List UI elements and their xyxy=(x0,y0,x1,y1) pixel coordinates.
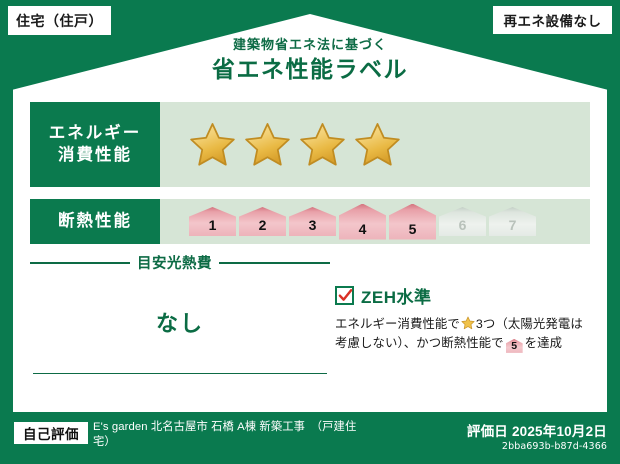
utility-cost-heading-text: 目安光熱費 xyxy=(137,252,212,273)
zeh-block: ZEH水準 エネルギー消費性能で 3つ（太陽光発電は考慮しない）、かつ断熱性能で… xyxy=(335,283,593,353)
evaluation-date-value: 2025年10月2日 xyxy=(512,424,607,439)
insulation-grade-scale: 1234567 xyxy=(160,199,590,244)
star-icon xyxy=(354,121,401,168)
zeh-desc-part1: エネルギー消費性能で xyxy=(335,317,460,331)
insulation-grade-2: 2 xyxy=(239,207,286,236)
zeh-desc-part3: を達成 xyxy=(525,336,562,350)
energy-performance-label: 住宅（住戸） 再エネ設備なし 建築物省エネ法に基づく 省エネ性能ラベル エネルギ… xyxy=(0,0,620,464)
energy-performance-label-line1: エネルギー xyxy=(49,123,142,144)
insulation-grade-1: 1 xyxy=(189,207,236,236)
energy-star-rating xyxy=(160,102,590,187)
header-subtitle: 建築物省エネ法に基づく xyxy=(0,38,620,52)
renewable-equipment-badge: 再エネ設備なし xyxy=(493,6,612,34)
utility-heading-rule-left xyxy=(30,262,130,264)
star-icon xyxy=(299,121,346,168)
evaluation-date: 評価日 2025年10月2日 xyxy=(467,420,607,440)
star-icon xyxy=(244,121,291,168)
label-header: 建築物省エネ法に基づく 省エネ性能ラベル xyxy=(0,38,620,83)
housing-type-badge: 住宅（住戸） xyxy=(8,6,111,35)
utility-cost-value: なし xyxy=(30,306,330,338)
utility-heading-rule-right xyxy=(219,262,330,264)
inline-grade-badge: 5 xyxy=(506,339,523,353)
page-title: 省エネ性能ラベル xyxy=(0,56,620,82)
energy-performance-row: エネルギー 消費性能 xyxy=(30,102,590,187)
evaluation-date-label: 評価日 xyxy=(467,424,508,439)
insulation-performance-label-text: 断熱性能 xyxy=(58,211,132,232)
utility-cost-block: 目安光熱費 なし xyxy=(30,252,330,382)
energy-performance-label: エネルギー 消費性能 xyxy=(30,102,160,187)
star-icon xyxy=(189,121,236,168)
star-icon xyxy=(461,316,475,330)
zeh-checkbox[interactable] xyxy=(335,286,354,305)
energy-performance-label-line2: 消費性能 xyxy=(58,145,132,166)
zeh-title: ZEH水準 xyxy=(361,283,432,308)
insulation-grade-6: 6 xyxy=(439,207,486,236)
document-id: 2bba693b-b87d-4366 xyxy=(502,441,607,452)
check-icon xyxy=(338,288,353,303)
insulation-grade-7: 7 xyxy=(489,207,536,236)
evaluation-type-badge: 自己評価 xyxy=(14,422,88,444)
utility-bottom-divider xyxy=(33,373,327,375)
insulation-grade-3: 3 xyxy=(289,207,336,236)
label-footer: 自己評価 E's garden 北名古屋市 石橋 A棟 新築工事 （戸建住宅） … xyxy=(0,415,620,464)
utility-cost-heading: 目安光熱費 xyxy=(30,252,330,273)
zeh-title-row: ZEH水準 xyxy=(335,283,593,308)
insulation-performance-row: 断熱性能 1234567 xyxy=(30,199,590,244)
zeh-description: エネルギー消費性能で 3つ（太陽光発電は考慮しない）、かつ断熱性能で5を達成 xyxy=(335,315,593,353)
project-name: E's garden 北名古屋市 石橋 A棟 新築工事 （戸建住宅） xyxy=(93,420,373,450)
insulation-grade-5: 5 xyxy=(389,204,436,240)
insulation-performance-label: 断熱性能 xyxy=(30,199,160,244)
insulation-grade-4: 4 xyxy=(339,204,386,240)
